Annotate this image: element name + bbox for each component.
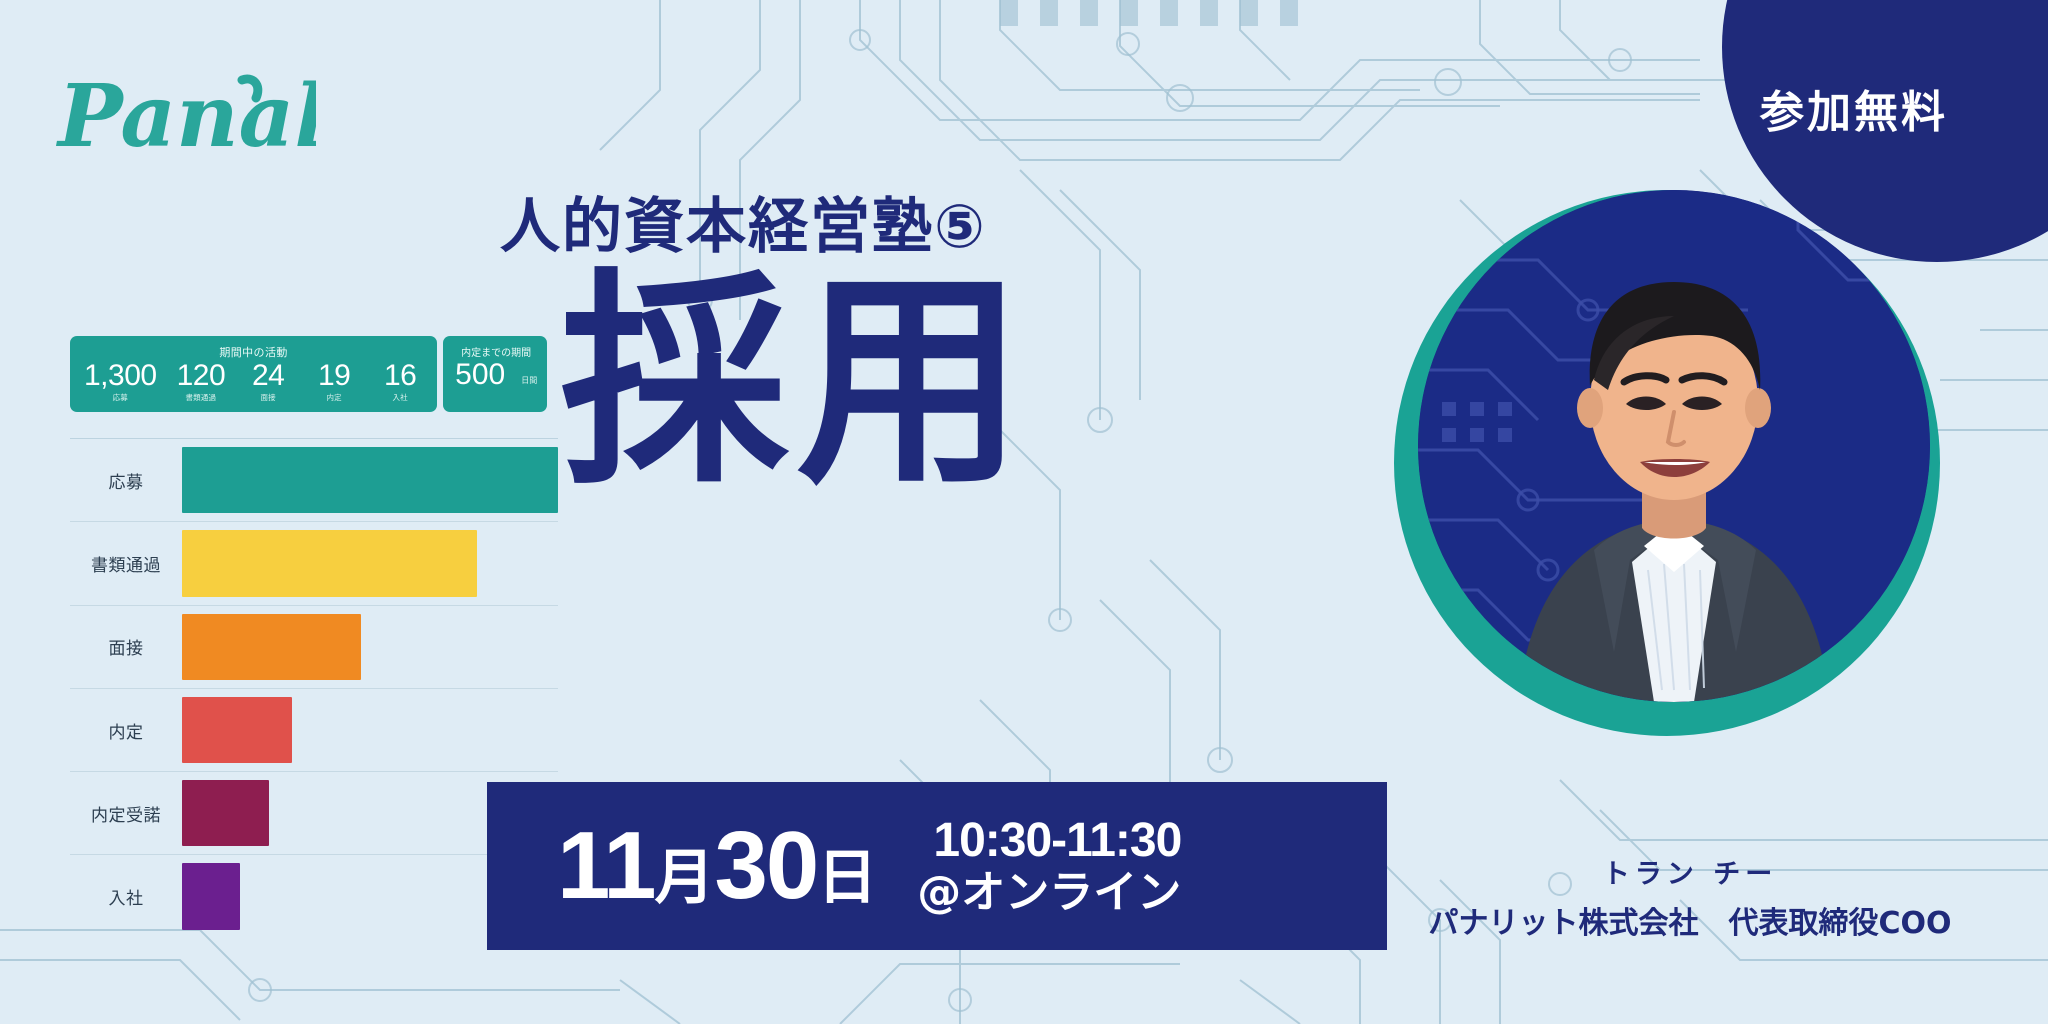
metric-label: 応募 (113, 392, 128, 403)
metric-value: 16 (384, 361, 416, 391)
time-to-offer-value: 500 (455, 360, 505, 390)
funnel-track (182, 439, 558, 521)
speaker-photo (1418, 190, 1930, 702)
time-to-offer-unit: 日間 (521, 375, 537, 390)
funnel-row: 内定受諾 (70, 771, 558, 854)
funnel-bar (182, 863, 240, 929)
funnel-bar (182, 780, 269, 846)
event-day-unit: 日 (817, 843, 877, 913)
event-month: 11 (557, 812, 654, 919)
banner-canvas: Panalyt 期間中の活動 1,300 応募 120 書類通過 (0, 0, 2048, 1024)
funnel-track (182, 689, 558, 771)
funnel-row: 内定 (70, 688, 558, 771)
metric-hires: 16 入社 (377, 361, 423, 403)
seminar-theme: 採用 (560, 268, 1032, 496)
funnel-label: 応募 (70, 468, 182, 493)
funnel-row: 入社 (70, 854, 558, 937)
funnel-bar (182, 614, 361, 680)
free-admission-label: 参加無料 (1760, 76, 1948, 140)
metric-value: 24 (252, 361, 284, 391)
panalyt-logo: Panalyt (56, 58, 316, 178)
event-venue: @オンライン (917, 868, 1181, 919)
funnel-label: 入社 (70, 884, 182, 909)
funnel-bar (182, 530, 477, 596)
funnel-bar (182, 447, 558, 513)
funnel-row: 応募 (70, 438, 558, 521)
event-date-banner: 11月30日 10:30-11:30 @オンライン (487, 782, 1387, 950)
event-day: 30 (714, 812, 817, 919)
funnel-label: 内定受諾 (70, 801, 182, 826)
time-to-offer-panel: 内定までの期間 500 日間 (443, 336, 547, 412)
panalyt-logo-text: Panalyt (56, 66, 316, 167)
funnel-bar (182, 697, 292, 763)
metric-offers: 19 内定 (311, 361, 357, 403)
time-to-offer-title: 内定までの期間 (455, 344, 537, 359)
funnel-track (182, 522, 558, 604)
activity-panel: 期間中の活動 1,300 応募 120 書類通過 24 面接 (70, 336, 437, 412)
metric-value: 120 (177, 361, 226, 391)
metric-screened: 120 書類通過 (177, 361, 226, 403)
metric-label: 内定 (326, 392, 341, 403)
activity-panel-title: 期間中の活動 (84, 344, 423, 360)
metric-applications: 1,300 応募 (84, 361, 157, 403)
metric-value: 19 (318, 361, 350, 391)
funnel-row: 面接 (70, 605, 558, 688)
funnel-label: 内定 (70, 718, 182, 743)
metric-label: 書類通過 (185, 392, 216, 403)
funnel-chart: 応募 書類通過 面接 内定 (70, 438, 558, 938)
event-date: 11月30日 (557, 811, 877, 921)
funnel-label: 書類通過 (70, 551, 182, 576)
event-time: 10:30-11:30 (933, 814, 1181, 868)
metric-value: 1,300 (84, 361, 157, 391)
event-month-unit: 月 (654, 843, 714, 913)
metric-interviews: 24 面接 (245, 361, 291, 403)
metric-label: 入社 (392, 392, 407, 403)
funnel-track (182, 606, 558, 688)
funnel-label: 面接 (70, 634, 182, 659)
stat-strip: 期間中の活動 1,300 応募 120 書類通過 24 面接 (70, 336, 547, 412)
speaker-title: パナリット株式会社 代表取締役COO (1370, 898, 2010, 942)
funnel-row: 書類通過 (70, 521, 558, 604)
speaker-name: トラン チー (1400, 852, 1980, 891)
metric-label: 面接 (260, 392, 275, 403)
event-time-block: 10:30-11:30 @オンライン (917, 814, 1181, 918)
